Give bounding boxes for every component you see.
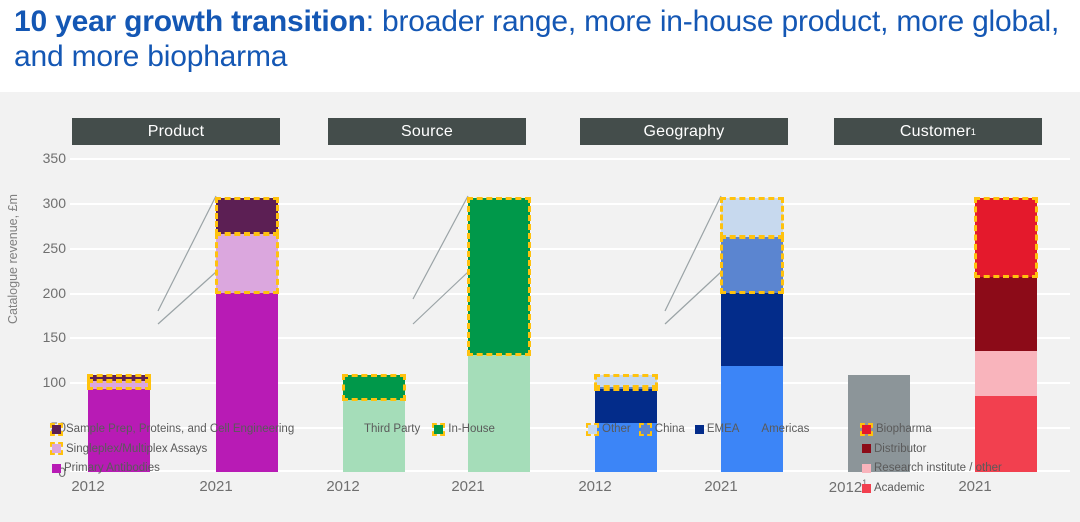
legend-item[interactable]: Research institute / other bbox=[862, 462, 1002, 475]
legend-label: Research institute / other bbox=[874, 462, 1002, 475]
title-strong: 10 year growth transition bbox=[14, 5, 366, 38]
legend-label: Biopharma bbox=[876, 423, 932, 436]
bar-segment-in-house bbox=[343, 375, 405, 400]
bar-segment-third-party bbox=[468, 355, 530, 472]
panel-header-product: Product bbox=[72, 118, 280, 145]
panel-header-geography: Geography bbox=[580, 118, 788, 145]
legend-label: China bbox=[655, 423, 685, 436]
bar-segment-biopharma bbox=[975, 198, 1037, 277]
legend-label: In-House bbox=[448, 423, 495, 436]
bar-segment-sample-prep-proteins-cell-engineering bbox=[88, 375, 150, 381]
legend-item[interactable]: Academic bbox=[862, 482, 1002, 495]
legend-item[interactable]: China bbox=[641, 423, 685, 436]
panel-header-customer: Customer1 bbox=[834, 118, 1042, 145]
legend-swatch-icon bbox=[588, 425, 597, 434]
bar-segment-distributor bbox=[975, 277, 1037, 351]
legend-source: Third Party In-House bbox=[352, 423, 495, 436]
legend-customer: Biopharma Distributor Research institute… bbox=[862, 423, 1002, 502]
legend-item[interactable]: Distributor bbox=[862, 443, 1002, 456]
gridline bbox=[70, 158, 1070, 160]
page-title: 10 year growth transition: broader range… bbox=[14, 4, 1070, 75]
panel-header-customer-label: Customer bbox=[900, 123, 971, 141]
legend-label: Sample Prep, Proteins, and Cell Engineer… bbox=[66, 423, 294, 436]
legend-swatch-icon bbox=[862, 484, 871, 493]
x-tick-source-2012: 2012 bbox=[283, 478, 403, 495]
panel-header-source-label: Source bbox=[401, 123, 453, 141]
legend-item[interactable]: EMEA bbox=[695, 423, 740, 436]
y-tick: 150 bbox=[24, 329, 66, 345]
legend-label: Singleplex/Multiplex Assays bbox=[66, 443, 207, 456]
x-tick-label: 2021 bbox=[704, 478, 737, 495]
bar-segment-sample-prep-proteins-cell-engineering bbox=[216, 198, 278, 234]
y-tick: 200 bbox=[24, 285, 66, 301]
legend-label: Other bbox=[602, 423, 631, 436]
legend-item[interactable]: In-House bbox=[434, 423, 495, 436]
legend-geography: Other China EMEA Americas bbox=[588, 423, 809, 436]
bar-segment-singleplex-multiplex-assays bbox=[216, 234, 278, 292]
bar-segment-china bbox=[595, 387, 657, 389]
bar-segment-other bbox=[721, 198, 783, 237]
x-tick-label: 2012 bbox=[326, 478, 359, 495]
bar-segment-in-house bbox=[468, 198, 530, 355]
legend-swatch-icon bbox=[641, 425, 650, 434]
x-tick-geography-2021: 2021 bbox=[661, 478, 781, 495]
legend-item[interactable]: Biopharma bbox=[862, 423, 1002, 436]
x-tick-label: 2012 bbox=[829, 479, 862, 496]
x-tick-source-2021: 2021 bbox=[408, 478, 528, 495]
legend-label: Primary Antibodies bbox=[64, 462, 160, 475]
bar-segment-emea bbox=[721, 293, 783, 367]
legend-label: Third Party bbox=[364, 423, 420, 436]
legend-swatch-icon bbox=[52, 444, 61, 453]
legend-label: Distributor bbox=[874, 443, 926, 456]
x-tick-label: 2021 bbox=[451, 478, 484, 495]
legend-item[interactable]: Primary Antibodies bbox=[52, 462, 294, 475]
y-tick: 100 bbox=[24, 374, 66, 390]
panel-header-source: Source bbox=[328, 118, 526, 145]
chart-surface: Product Source Geography Customer1 Catal… bbox=[0, 92, 1080, 522]
legend-swatch-icon bbox=[352, 425, 361, 434]
legend-swatch-icon bbox=[52, 464, 61, 473]
legend-swatch-icon bbox=[434, 425, 443, 434]
x-tick-label: 2012 bbox=[578, 478, 611, 495]
legend-label: EMEA bbox=[707, 423, 740, 436]
slide-root: 10 year growth transition: broader range… bbox=[0, 0, 1080, 522]
bar-segment-other bbox=[595, 375, 657, 387]
legend-swatch-icon bbox=[749, 425, 758, 434]
legend-item[interactable]: Sample Prep, Proteins, and Cell Engineer… bbox=[52, 423, 294, 436]
legend-item[interactable]: Americas bbox=[749, 423, 809, 436]
legend-swatch-icon bbox=[862, 464, 871, 473]
legend-item[interactable]: Other bbox=[588, 423, 631, 436]
panel-header-product-label: Product bbox=[148, 123, 205, 141]
bar-segment-americas bbox=[721, 366, 783, 472]
bar-segment-third-party bbox=[343, 400, 405, 472]
y-tick: 350 bbox=[24, 150, 66, 166]
panel-header-geography-label: Geography bbox=[644, 123, 725, 141]
legend-label: Americas bbox=[761, 423, 809, 436]
bar-segment-china bbox=[721, 237, 783, 293]
legend-swatch-icon bbox=[862, 425, 871, 434]
legend-swatch-icon bbox=[862, 444, 871, 453]
legend-swatch-icon bbox=[695, 425, 704, 434]
legend-swatch-icon bbox=[52, 425, 61, 434]
bar-segment-research-institute-other bbox=[975, 351, 1037, 396]
x-tick-geography-2012: 2012 bbox=[535, 478, 655, 495]
legend-label: Academic bbox=[874, 482, 925, 495]
panel-header-customer-footnote: 1 bbox=[971, 127, 976, 137]
legend-product: Sample Prep, Proteins, and Cell Engineer… bbox=[52, 423, 294, 482]
y-tick: 300 bbox=[24, 195, 66, 211]
legend-item[interactable]: Singleplex/Multiplex Assays bbox=[52, 443, 294, 456]
bar-segment-singleplex-multiplex-assays bbox=[88, 381, 150, 388]
y-tick: 250 bbox=[24, 240, 66, 256]
bar-segment-emea bbox=[595, 389, 657, 423]
legend-item[interactable]: Third Party bbox=[352, 423, 420, 436]
